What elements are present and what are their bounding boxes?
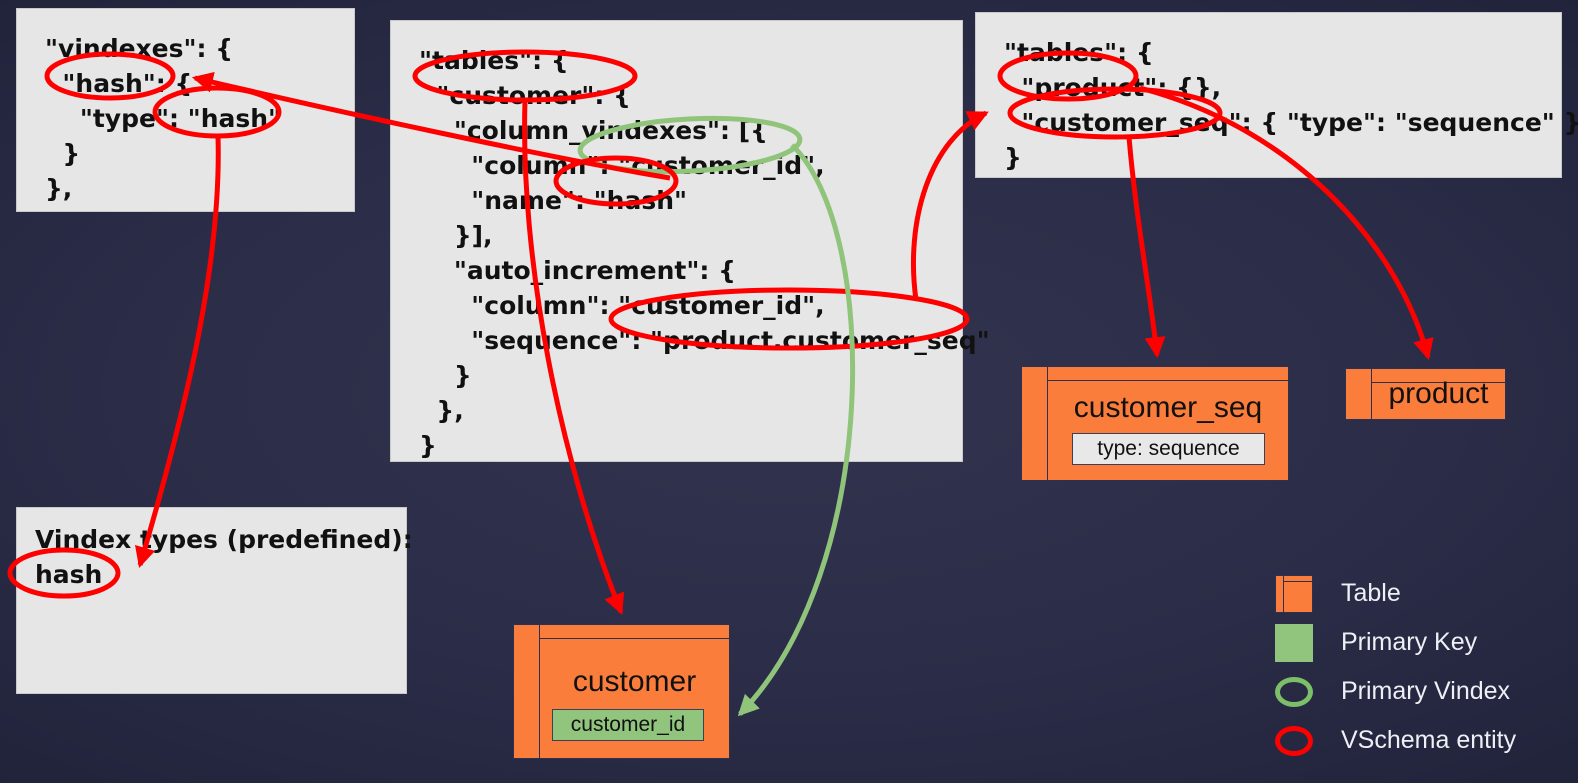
tables-product-panel: "tables": { "product": {}, "customer_seq… [975,12,1562,178]
column-chip-type-sequence[interactable]: type: sequence [1072,433,1265,465]
table-name-product: product [1372,377,1505,411]
table-gutter [514,625,540,758]
table-header-rule [540,638,729,639]
table-box-product[interactable]: product [1345,368,1506,420]
vindexes-code: "vindexes": { "hash": { "type": "hash" }… [45,31,281,206]
primary-vindex-ellipse-icon [1275,677,1313,707]
table-name-customer-seq: customer_seq [1048,391,1288,425]
legend-label-table: Table [1341,579,1401,608]
legend-label-primary-vindex: Primary Vindex [1341,677,1510,706]
diagram-canvas: "vindexes": { "hash": { "type": "hash" }… [0,0,1578,783]
legend-label-vschema-entity: VSchema entity [1341,726,1516,755]
legend-item-primary-vindex: Primary Vindex [1275,673,1565,713]
table-header-rule [1048,380,1288,381]
table-box-customer-seq[interactable]: customer_seq type: sequence [1021,366,1289,481]
column-chip-customer-id[interactable]: customer_id [552,709,704,741]
table-name-customer: customer [540,665,729,699]
table-swatch-icon [1275,575,1313,613]
legend-label-primary-key: Primary Key [1341,628,1477,657]
legend: Table Primary Key Primary Vindex VSchema… [1275,575,1565,765]
primary-key-swatch-icon [1275,624,1313,662]
legend-item-primary-key: Primary Key [1275,624,1565,664]
legend-item-vschema-entity: VSchema entity [1275,722,1565,762]
vindex-types-item-hash: hash [35,557,102,592]
vindex-types-panel: Vindex types (predefined): hash [16,507,407,694]
tables-customer-panel: "tables": { "customer": { "column_vindex… [390,20,963,462]
legend-item-table: Table [1275,575,1565,615]
table-box-customer[interactable]: customer customer_id [513,624,730,759]
table-gutter [1346,369,1372,419]
table-gutter [1022,367,1048,480]
vindexes-panel: "vindexes": { "hash": { "type": "hash" }… [16,8,355,212]
tables-customer-code: "tables": { "customer": { "column_vindex… [419,43,990,463]
vschema-entity-ellipse-icon [1275,726,1313,756]
tables-product-code: "tables": { "product": {}, "customer_seq… [1004,35,1578,175]
vindex-types-heading: Vindex types (predefined): [35,522,413,557]
